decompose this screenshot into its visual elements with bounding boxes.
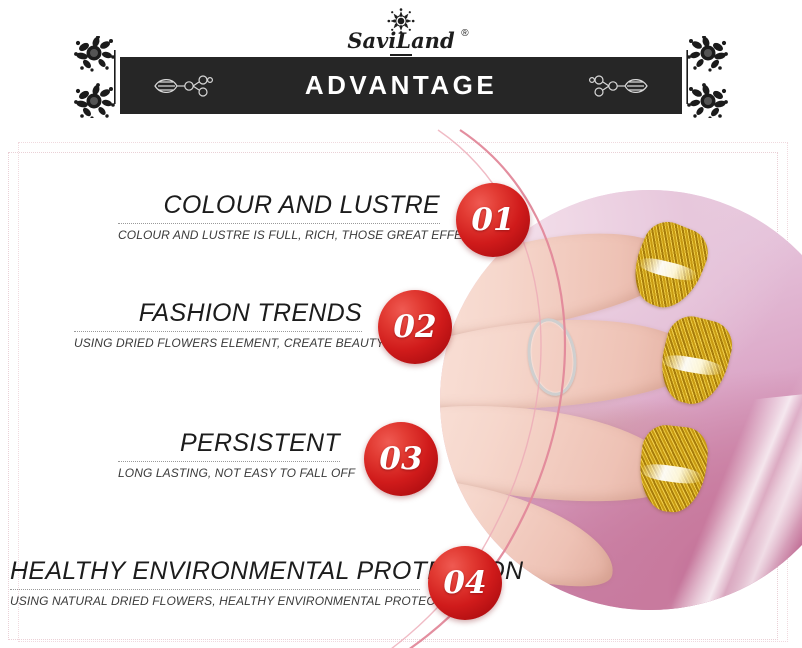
brand-name: SaviLand [347, 28, 454, 53]
divider [118, 223, 440, 224]
divider [10, 589, 420, 590]
advantage-banner-page: SaviLand ® [0, 0, 802, 648]
advantage-item-02: FASHION TRENDS USING DRIED FLOWERS ELEME… [74, 300, 362, 350]
divider [118, 461, 340, 462]
logo-underline [390, 54, 412, 56]
advantage-title: FASHION TRENDS [74, 300, 362, 326]
advantage-title: PERSISTENT [118, 430, 340, 456]
registered-trademark-icon: ® [461, 28, 468, 39]
advantage-banner: ADVANTAGE [120, 57, 682, 114]
advantage-number: 02 [378, 290, 452, 364]
advantage-number-badge-01: 01 [456, 183, 530, 257]
advantage-item-01: COLOUR AND LUSTRE COLOUR AND LUSTRE IS F… [118, 192, 440, 242]
nail-highlight [641, 462, 703, 486]
advantage-subtitle: LONG LASTING, NOT EASY TO FALL OFF [118, 466, 340, 480]
advantage-number-badge-04: 04 [428, 546, 502, 620]
advantage-title: COLOUR AND LUSTRE [118, 192, 440, 218]
floral-corner-ornament-icon [64, 36, 122, 118]
flower-ornament-icon [384, 8, 418, 34]
nail-highlight [662, 353, 724, 378]
divider [74, 331, 362, 332]
page-header: SaviLand ® [0, 0, 802, 140]
advantage-title: HEALTHY ENVIRONMENTAL PROTECTION [10, 558, 420, 584]
nail-highlight [638, 255, 698, 284]
advantage-number-badge-03: 03 [364, 422, 438, 496]
advantage-number: 03 [364, 422, 438, 496]
advantage-number-badge-02: 02 [378, 290, 452, 364]
advantage-number: 01 [456, 183, 530, 257]
floral-corner-ornament-icon [680, 36, 738, 118]
leaf-and-circles-ornament-icon [584, 71, 650, 101]
advantage-item-03: PERSISTENT LONG LASTING, NOT EASY TO FAL… [118, 430, 340, 480]
nail [623, 215, 716, 318]
advantage-subtitle: USING NATURAL DRIED FLOWERS, HEALTHY ENV… [10, 594, 420, 608]
advantage-number: 04 [428, 546, 502, 620]
advantage-subtitle: USING DRIED FLOWERS ELEMENT, CREATE BEAU… [74, 336, 362, 350]
advantage-subtitle: COLOUR AND LUSTRE IS FULL, RICH, THOSE G… [118, 228, 440, 242]
advantage-item-04: HEALTHY ENVIRONMENTAL PROTECTION USING N… [10, 558, 420, 608]
